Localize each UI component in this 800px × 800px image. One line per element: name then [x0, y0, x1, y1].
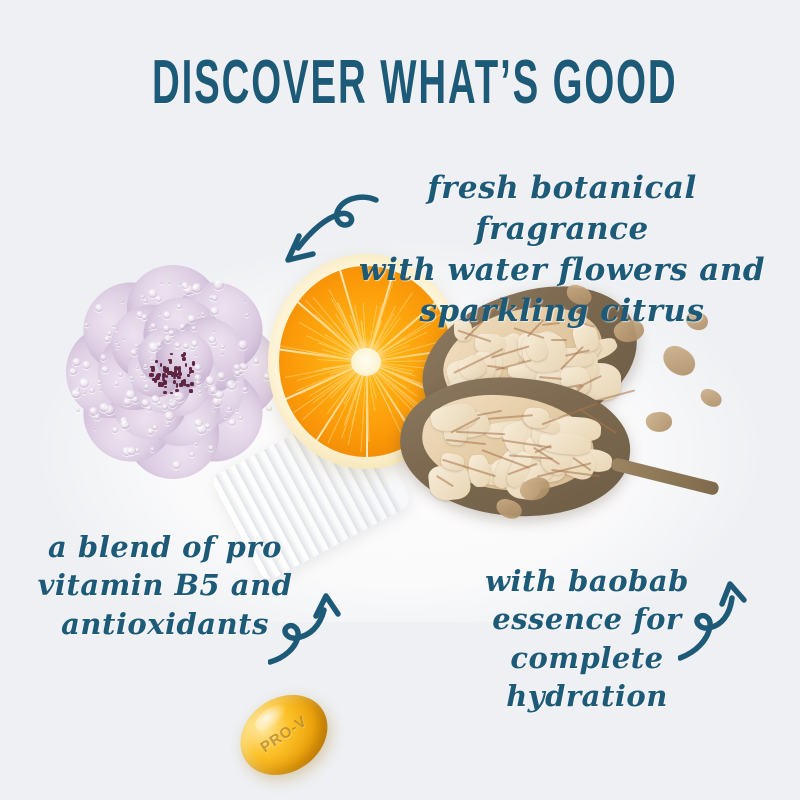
- caption-baobab-line-2: essence for: [482, 600, 692, 638]
- promo-banner: DISCOVER WHAT’S GOOD PRO-V fresh botanic…: [0, 0, 800, 800]
- caption-baobab-line-4: hydration: [482, 677, 692, 715]
- caption-baobab-line-3: complete: [482, 639, 692, 677]
- caption-vitamin: a blend of pro vitamin B5 and antioxidan…: [30, 528, 300, 643]
- caption-baobab-line-1: with baobab: [482, 562, 692, 600]
- caption-vitamin-line-2: vitamin B5 and: [30, 566, 300, 604]
- water-flower: [68, 262, 278, 482]
- caption-fragrance-line-1: fresh botanical fragrance: [352, 168, 772, 250]
- pro-v-capsule: PRO-V: [238, 698, 330, 772]
- caption-vitamin-line-3: antioxidants: [30, 605, 300, 643]
- caption-vitamin-line-1: a blend of pro: [30, 528, 300, 566]
- orange-core: [351, 348, 381, 376]
- caption-baobab: with baobab essence for complete hydrati…: [482, 562, 692, 715]
- curled-arrow-down-left-icon: [276, 192, 380, 268]
- curled-arrow-up-left-icon: [678, 576, 762, 662]
- caption-fragrance: fresh botanical fragrance with water flo…: [352, 168, 772, 332]
- page-title: DISCOVER WHAT’S GOOD: [152, 52, 648, 114]
- curled-arrow-up-right-icon: [268, 588, 360, 668]
- caption-fragrance-line-2: with water flowers and: [352, 250, 772, 291]
- caption-fragrance-line-3: sparkling citrus: [352, 291, 772, 332]
